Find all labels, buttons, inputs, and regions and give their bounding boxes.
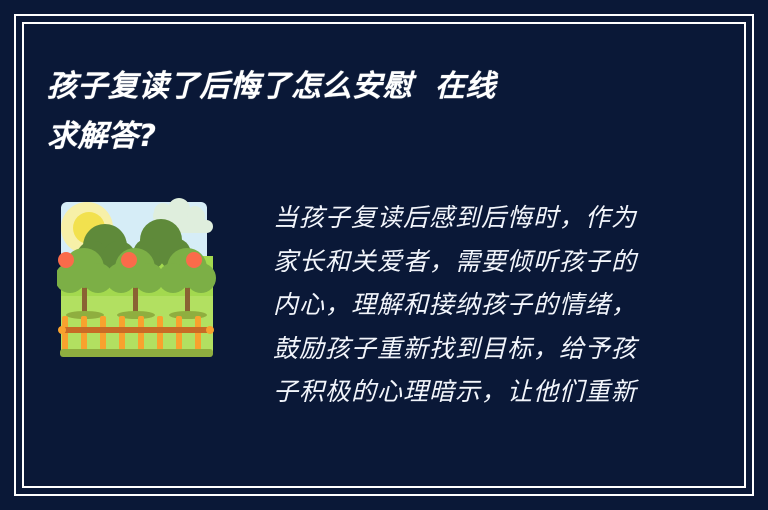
answer-body-text: 当孩子复读后感到后悔时，作为 家长和关爱者，需要倾听孩子的 内心，理解和接纳孩子… [273,196,728,414]
page-title: 孩子复读了后悔了怎么安慰 在线 求解答? [47,62,687,162]
title-line-2: 求解答? [47,112,687,162]
body-line-5: 子积极的心理暗示，让他们重新 [273,370,728,414]
orchard-garden-illustration [57,198,217,362]
answer-card: 孩子复读了后悔了怎么安慰 在线 求解答? [0,0,768,510]
body-line-3: 内心，理解和接纳孩子的情绪， [273,283,728,327]
body-line-2: 家长和关爱者，需要倾听孩子的 [273,240,728,284]
body-line-1: 当孩子复读后感到后悔时，作为 [273,196,728,240]
title-line-1: 孩子复读了后悔了怎么安慰 在线 [47,62,687,112]
body-line-4: 鼓励孩子重新找到目标，给予孩 [273,327,728,371]
content-row: 当孩子复读后感到后悔时，作为 家长和关爱者，需要倾听孩子的 内心，理解和接纳孩子… [47,196,728,414]
